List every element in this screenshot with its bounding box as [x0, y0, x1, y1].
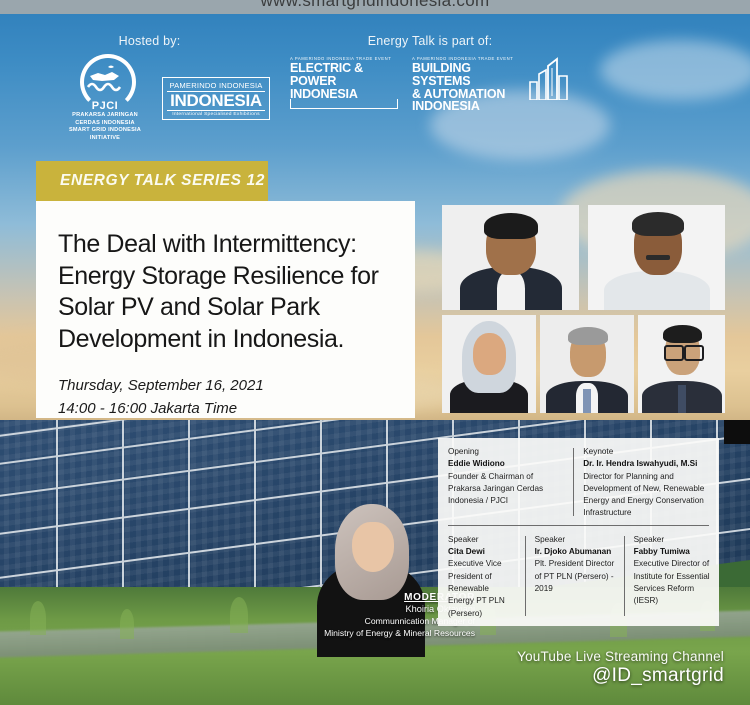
speaker-entry-opening: Opening Eddie Widiono Founder & Chairman…	[438, 446, 573, 520]
speaker-desc: Director for Planning and Development of…	[583, 471, 711, 520]
speaker-desc: Executive Director of Institute for Esse…	[634, 558, 711, 607]
speaker-entry-keynote: Keynote Dr. Ir. Hendra Iswahyudi, M.Si D…	[573, 446, 719, 520]
building-systems-automation-logo: A PAMERINDO INDONESIA TRADE EVENT BUILDI…	[412, 56, 514, 113]
pamerindo-mid: INDONESIA	[167, 92, 265, 110]
speaker-entry-fabby-tumiwa: Speaker Fabby Tumiwa Executive Director …	[624, 534, 719, 620]
webinar-poster: www.smartgridindonesia.com Hosted by: PJ…	[0, 0, 750, 705]
speaker-desc: Plt. President Director of PT PLN (Perse…	[535, 558, 616, 595]
pjci-line1: PRAKARSA JARINGAN CERDAS INDONESIA	[64, 112, 146, 127]
speaker-name: Ir. Djoko Abumanan	[535, 546, 616, 558]
pjci-logo: PJCI PRAKARSA JARINGAN CERDAS INDONESIA …	[64, 54, 146, 142]
speaker-name: Dr. Ir. Hendra Iswahyudi, M.Si	[583, 458, 711, 470]
speaker-photo-djoko-abumanan	[540, 315, 634, 413]
moderator-desc-line2: Ministry of Energy & Mineral Resources	[265, 628, 475, 640]
speaker-desc: Founder & Chairman of Prakarsa Jaringan …	[448, 471, 565, 508]
pjci-mark-icon	[74, 54, 136, 108]
series-badge: ENERGY TALK SERIES 12	[36, 161, 268, 201]
speaker-info-panel: Opening Eddie Widiono Founder & Chairman…	[438, 438, 719, 626]
speaker-name: Cita Dewi	[448, 546, 517, 558]
speaker-entry-cita-dewi: Speaker Cita Dewi Executive Vice Preside…	[438, 534, 525, 620]
bsa-kicker: A PAMERINDO INDONESIA TRADE EVENT	[412, 56, 514, 61]
electric-power-indonesia-logo: A PAMERINDO INDONESIA TRADE EVENT ELECTR…	[290, 56, 398, 109]
speaker-name: Eddie Widiono	[448, 458, 565, 470]
youtube-channel-block: YouTube Live Streaming Channel @ID_smart…	[517, 649, 724, 687]
building-icon	[526, 56, 572, 100]
speaker-role: Keynote	[583, 446, 711, 458]
speaker-role: Speaker	[448, 534, 517, 546]
corner-block	[724, 420, 750, 444]
site-url: www.smartgridindonesia.com	[0, 0, 750, 11]
youtube-handle: @ID_smartgrid	[517, 665, 724, 687]
series-badge-label: ENERGY TALK SERIES 12	[36, 172, 265, 190]
youtube-label: YouTube Live Streaming Channel	[517, 649, 724, 664]
speaker-role: Opening	[448, 446, 565, 458]
speaker-photo-eddie-widiono	[442, 205, 579, 310]
speaker-photo-fabby-tumiwa	[638, 315, 725, 413]
part-of-label: Energy Talk is part of:	[290, 34, 570, 48]
hosted-by-label: Hosted by:	[42, 34, 257, 48]
speaker-entry-djoko-abumanan: Speaker Ir. Djoko Abumanan Plt. Presiden…	[525, 534, 624, 620]
speaker-row-bottom: Speaker Cita Dewi Executive Vice Preside…	[438, 526, 719, 620]
event-date: Thursday, September 16, 2021	[58, 375, 415, 398]
speaker-photo-cita-dewi	[442, 315, 536, 413]
moderator-block: MODERATOR Khoiria Oktaviani Communnicati…	[295, 500, 445, 650]
glasses-icon	[684, 345, 704, 361]
event-time: 14:00 - 16:00 Jakarta Time	[58, 398, 415, 421]
bsa-line3: INDONESIA	[412, 100, 514, 113]
bsa-line1: BUILDING SYSTEMS	[412, 62, 514, 88]
epi-line1: ELECTRIC & POWER	[290, 62, 398, 88]
speaker-row-top: Opening Eddie Widiono Founder & Chairman…	[438, 438, 719, 520]
pamerindo-logo: PAMERINDO INDONESIA INDONESIA Internatio…	[162, 77, 270, 120]
top-url-strip: www.smartgridindonesia.com	[0, 0, 750, 14]
speaker-role: Speaker	[634, 534, 711, 546]
speaker-role: Speaker	[535, 534, 616, 546]
page-title: The Deal with Intermittency: Energy Stor…	[58, 229, 408, 355]
speaker-desc: Executive Vice President of Renewable En…	[448, 558, 517, 619]
speaker-photo-grid	[440, 203, 728, 415]
speaker-photo-hendra-iswahyudi	[588, 205, 725, 310]
pjci-line2: SMART GRID INDONESIA INITIATIVE	[64, 127, 146, 142]
epi-kicker: A PAMERINDO INDONESIA TRADE EVENT	[290, 56, 398, 61]
title-card: The Deal with Intermittency: Energy Stor…	[36, 201, 415, 418]
hosted-by-block: Hosted by: PJCI PRAKARSA JARINGAN CERDAS…	[42, 34, 312, 142]
event-datetime: Thursday, September 16, 2021 14:00 - 16:…	[58, 375, 415, 420]
glasses-icon	[664, 345, 684, 361]
pamerindo-bottom: International Specialised Exhibitions	[167, 110, 265, 117]
speaker-name: Fabby Tumiwa	[634, 546, 711, 558]
part-of-block: Energy Talk is part of: A PAMERINDO INDO…	[290, 34, 630, 113]
